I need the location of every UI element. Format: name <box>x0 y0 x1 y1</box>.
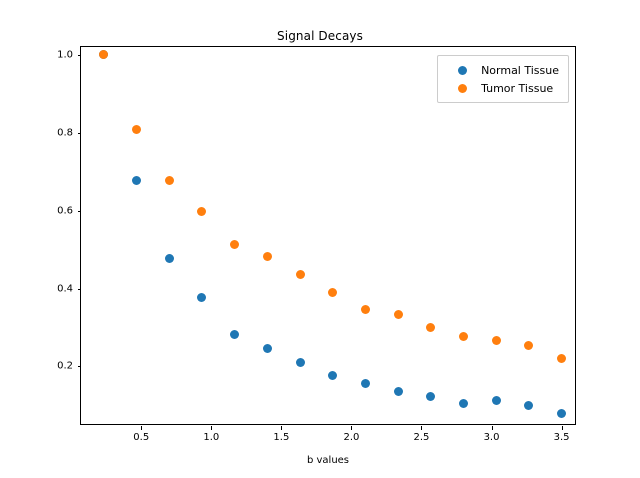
legend-marker-icon <box>445 66 479 75</box>
data-point <box>361 379 370 388</box>
x-axis-label: b values <box>80 455 576 466</box>
data-point <box>492 336 501 345</box>
data-point <box>296 358 305 367</box>
x-axis-tick <box>211 426 212 430</box>
data-point <box>394 387 403 396</box>
data-point <box>197 293 206 302</box>
data-point <box>328 288 337 297</box>
data-point <box>426 323 435 332</box>
data-point <box>99 50 108 59</box>
data-point <box>165 254 174 263</box>
data-point <box>557 409 566 418</box>
y-axis-tick-label: 0.2 <box>57 361 73 372</box>
x-axis-tick <box>141 426 142 430</box>
x-axis-tick <box>492 426 493 430</box>
x-axis-tick-label: 1.0 <box>203 432 219 443</box>
data-point <box>524 341 533 350</box>
x-axis-tick <box>281 426 282 430</box>
y-axis-tick <box>78 133 82 134</box>
x-axis-tick-label: 1.5 <box>273 432 289 443</box>
data-point <box>132 176 141 185</box>
x-axis-tick-label: 2.5 <box>414 432 430 443</box>
data-point <box>197 207 206 216</box>
x-axis-tick-label: 2.0 <box>343 432 359 443</box>
plot-area: 0.51.01.52.02.53.03.50.20.40.60.81.0 Nor… <box>80 46 576 425</box>
data-point <box>524 401 533 410</box>
data-point <box>459 332 468 341</box>
legend-item-label: Normal Tissue <box>479 64 559 77</box>
data-point <box>165 176 174 185</box>
data-point <box>557 354 566 363</box>
legend-box: Normal TissueTumor Tissue <box>437 55 569 103</box>
x-axis-tick-label: 3.0 <box>484 432 500 443</box>
y-axis-tick <box>78 366 82 367</box>
page-title: Signal Decays <box>0 29 640 43</box>
data-point <box>394 310 403 319</box>
y-axis-tick <box>78 289 82 290</box>
x-axis-tick <box>562 426 563 430</box>
x-axis-tick-label: 3.5 <box>554 432 570 443</box>
x-axis-tick-label: 0.5 <box>133 432 149 443</box>
y-axis-tick-label: 0.4 <box>57 283 73 294</box>
data-point <box>296 270 305 279</box>
x-axis-tick <box>421 426 422 430</box>
figure-canvas: Signal Decays 0.51.01.52.02.53.03.50.20.… <box>0 0 640 478</box>
data-point <box>263 344 272 353</box>
data-point <box>263 252 272 261</box>
y-axis-tick-label: 0.6 <box>57 205 73 216</box>
y-axis-tick <box>78 211 82 212</box>
data-point <box>492 396 501 405</box>
legend-item[interactable]: Normal Tissue <box>445 61 559 79</box>
y-axis-tick-label: 0.8 <box>57 127 73 138</box>
y-axis-tick-label: 1.0 <box>57 49 73 60</box>
data-points-layer <box>81 47 575 424</box>
legend-item[interactable]: Tumor Tissue <box>445 79 559 97</box>
x-axis-tick <box>351 426 352 430</box>
y-axis-tick <box>78 55 82 56</box>
data-point <box>230 330 239 339</box>
data-point <box>230 240 239 249</box>
data-point <box>132 125 141 134</box>
data-point <box>328 371 337 380</box>
data-point <box>426 392 435 401</box>
legend-item-label: Tumor Tissue <box>479 82 553 95</box>
legend-marker-icon <box>445 84 479 93</box>
data-point <box>361 305 370 314</box>
data-point <box>459 399 468 408</box>
